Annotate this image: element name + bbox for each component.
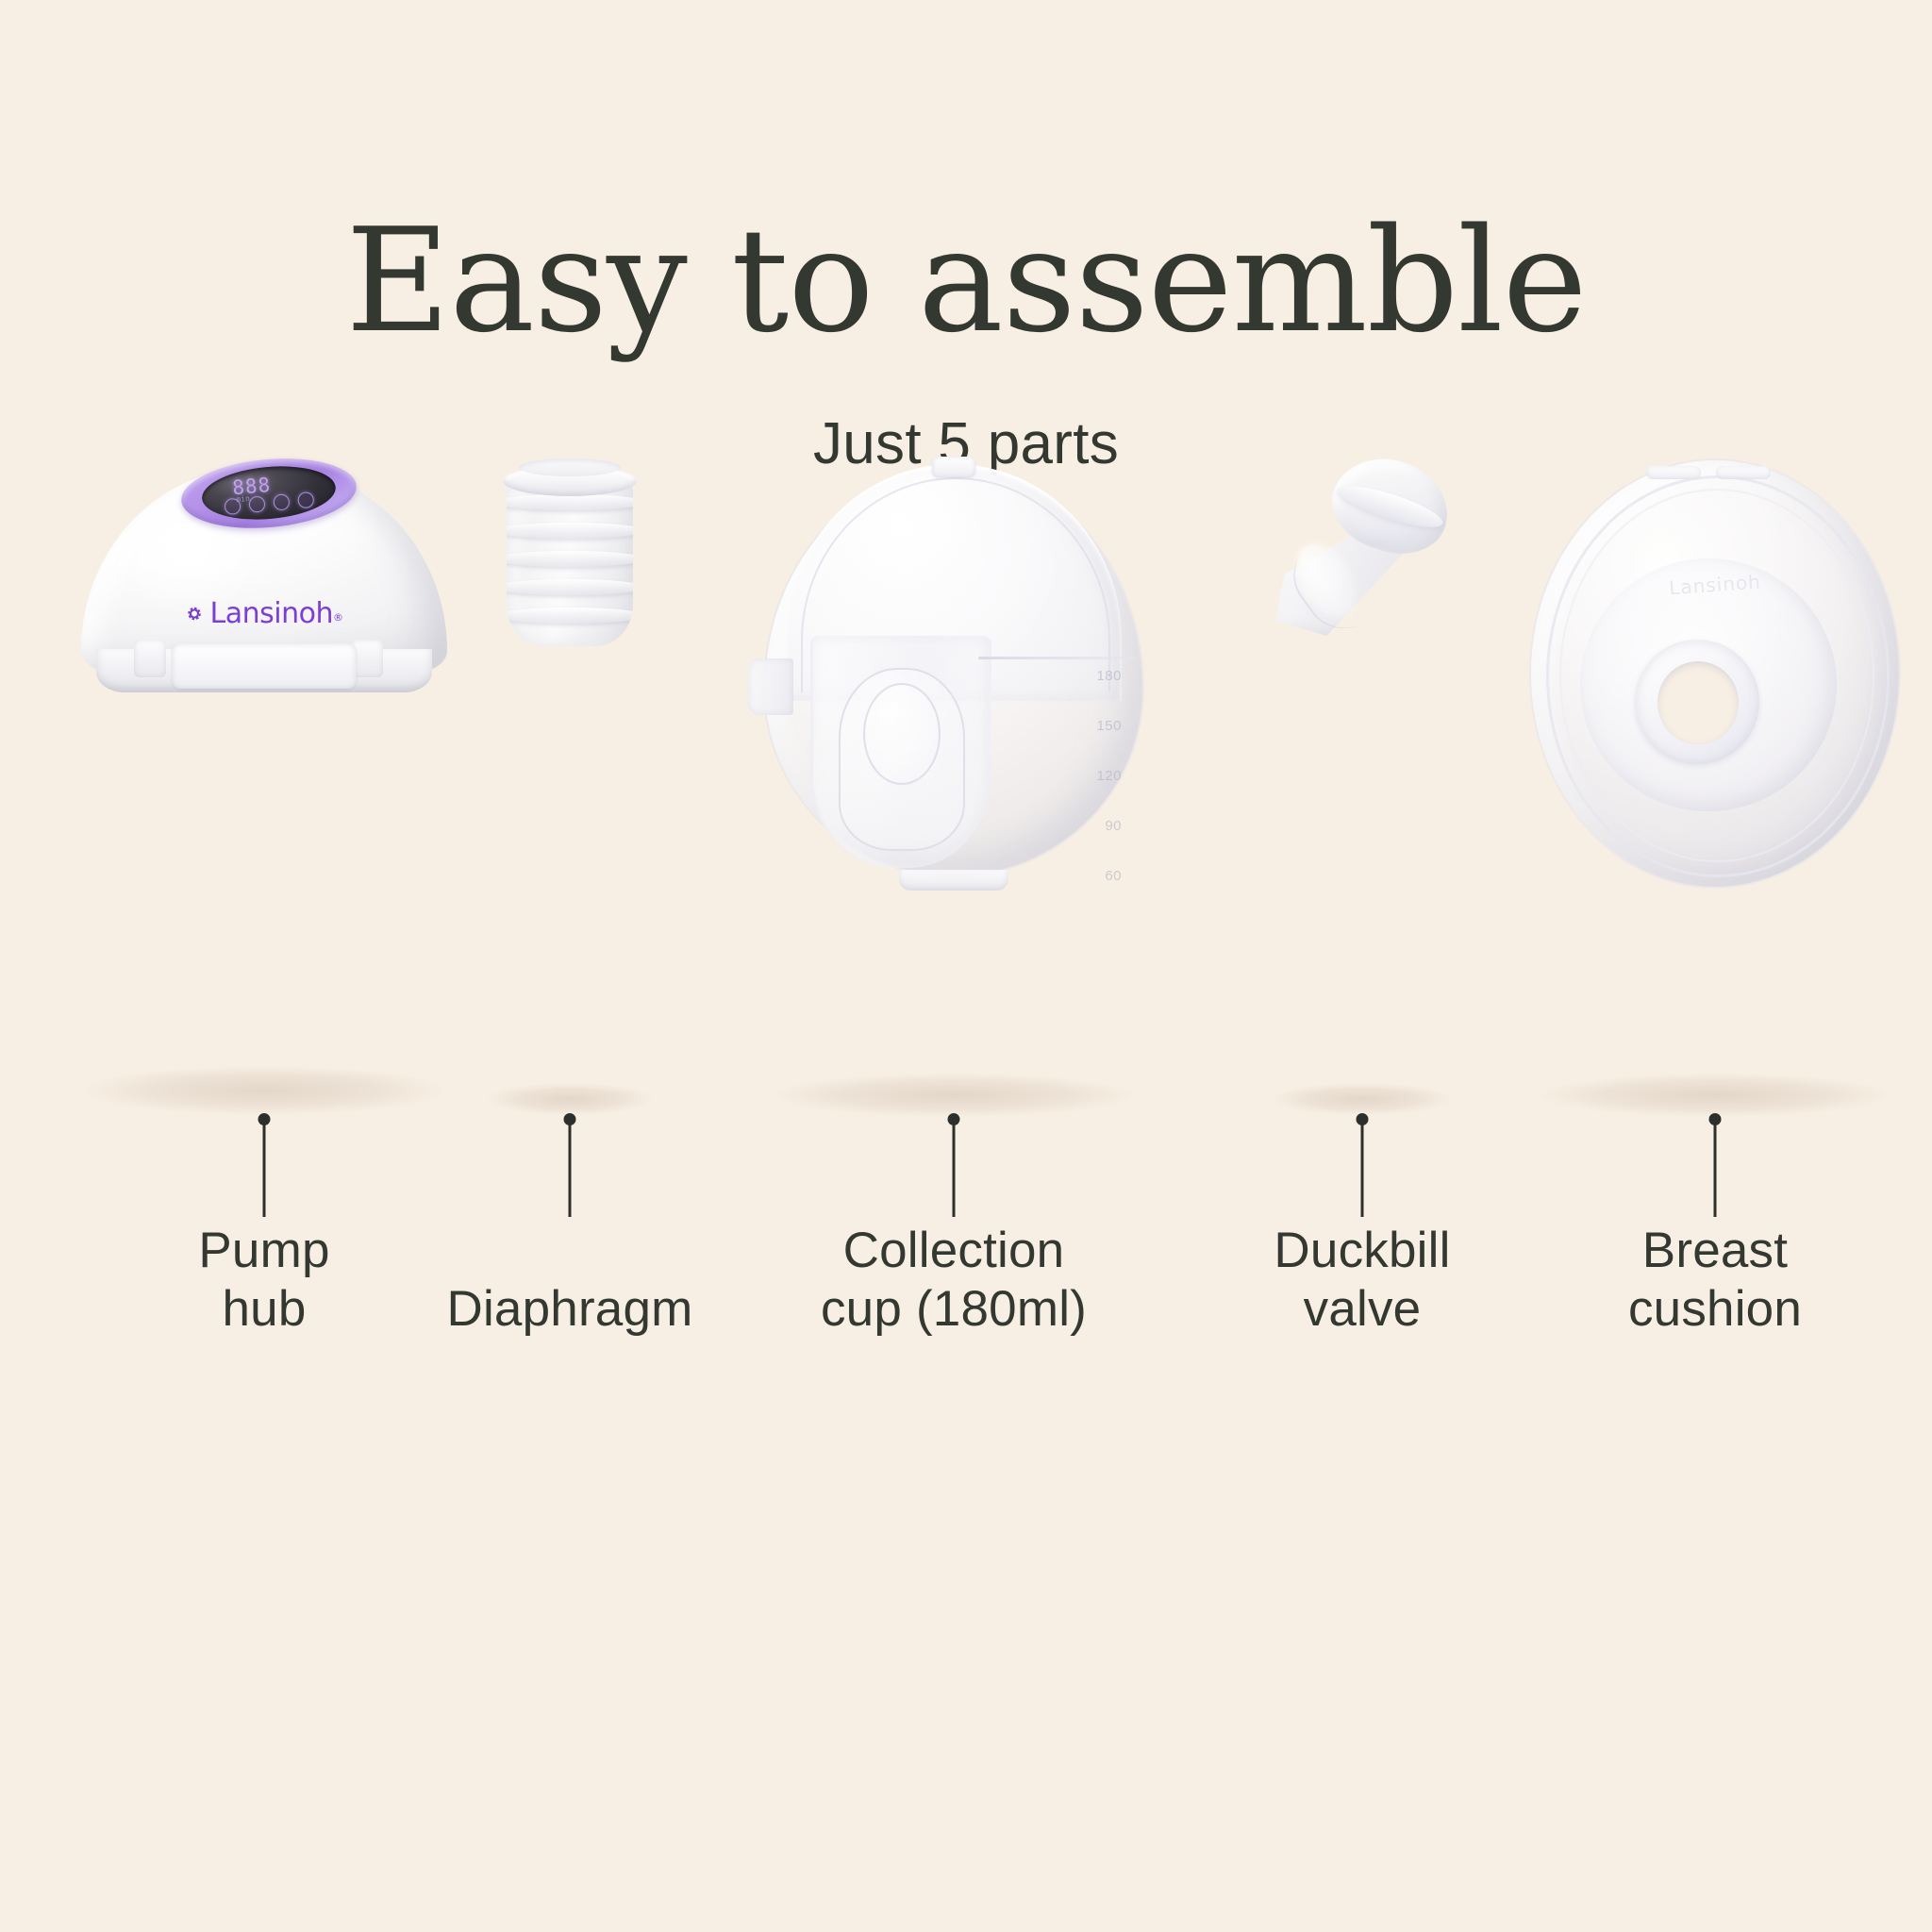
caption-line-1: Duckbill	[1274, 1222, 1450, 1281]
diaphragm-leader	[568, 1113, 573, 1217]
collection-cup-shadow	[774, 1074, 1133, 1117]
diaphragm-art	[494, 453, 645, 660]
minus-icon[interactable]	[273, 493, 290, 510]
pump-hub-leader	[262, 1113, 267, 1217]
duckbill-valve-caption: Duckbill valve	[1274, 1222, 1450, 1340]
page-title: Easy to assemble	[0, 209, 1932, 353]
mode-icon[interactable]	[248, 495, 265, 512]
caption-line-1: Breast	[1628, 1222, 1802, 1281]
diaphragm-rib	[507, 551, 633, 567]
collection-cup-volume-scale: 180 150 120 90 60	[1096, 668, 1122, 884]
leader-line	[569, 1124, 572, 1217]
collection-cup-foot	[899, 870, 1008, 891]
diaphragm-rib	[507, 608, 633, 624]
diaphragm-caption: Diaphragm	[446, 1280, 692, 1340]
breast-cushion-art: Lansinoh	[1531, 453, 1899, 896]
part-breast-cushion[interactable]: Lansinoh Breast cushion	[1498, 830, 1932, 1491]
diaphragm-rib	[507, 523, 633, 539]
diaphragm-body	[507, 481, 633, 646]
pump-hub-caption: Pump hub	[198, 1222, 329, 1340]
pump-hub-brand-name: Lansinoh®	[210, 597, 343, 630]
duckbill-valve-shadow	[1273, 1083, 1452, 1115]
collection-cup-fill-line	[978, 657, 1137, 659]
leader-line	[1361, 1124, 1364, 1217]
volume-mark: 60	[1105, 868, 1122, 884]
collection-cup-hinge	[932, 457, 975, 477]
duckbill-valve-art	[1268, 453, 1457, 656]
pump-hub-clip-left	[134, 640, 166, 677]
pump-hub-brand-logo: Lansinoh®	[186, 597, 343, 630]
volume-mark: 180	[1096, 668, 1122, 684]
caption-line-2: hub	[198, 1280, 329, 1340]
leader-line	[953, 1124, 956, 1217]
diaphragm-rib	[507, 494, 633, 510]
diaphragm-rib	[507, 579, 633, 595]
volume-mark: 120	[1096, 768, 1122, 784]
pump-hub-display[interactable]: 888 min	[200, 461, 338, 525]
caption-line-1: Pump	[198, 1222, 329, 1281]
diaphragm-cap-inner	[519, 458, 621, 476]
power-icon[interactable]	[224, 498, 241, 515]
diaphragm-shadow	[488, 1083, 653, 1115]
leader-line	[1714, 1124, 1717, 1217]
collection-cup-tunnel-inner	[863, 683, 941, 785]
breast-cushion-caption: Breast cushion	[1628, 1222, 1802, 1340]
pump-hub-shadow	[85, 1066, 443, 1115]
leader-line	[263, 1124, 266, 1217]
duckbill-valve-leader	[1360, 1113, 1365, 1217]
breast-cushion-notch-left	[1646, 466, 1701, 479]
part-duckbill-valve[interactable]: Duckbill valve	[1223, 830, 1502, 1491]
collection-cup-leader	[952, 1113, 957, 1217]
caption-line-2: cup (180ml)	[821, 1280, 1087, 1340]
pump-hub-clip-center	[172, 643, 357, 689]
lansinoh-flower-icon	[186, 605, 204, 623]
part-collection-cup[interactable]: 180 150 120 90 60 Collection cup (180ml)	[689, 830, 1219, 1491]
breast-cushion-shadow	[1541, 1074, 1890, 1117]
volume-mark: 150	[1096, 718, 1122, 734]
header-block: Easy to assemble Just 5 parts	[0, 0, 1932, 474]
caption-line-1: Collection	[821, 1222, 1087, 1281]
pump-hub-art: 888 min Lansinoh®	[75, 453, 453, 698]
caption-line-2: valve	[1274, 1280, 1450, 1340]
caption-line-2: cushion	[1628, 1280, 1802, 1340]
collection-cup-spout	[748, 658, 793, 715]
collection-cup-caption: Collection cup (180ml)	[821, 1222, 1087, 1340]
caption-line-1: Diaphragm	[446, 1280, 692, 1340]
parts-row: 888 min Lansinoh® Pump	[0, 830, 1932, 1491]
volume-mark: 90	[1105, 818, 1122, 834]
collection-cup-art: 180 150 120 90 60	[765, 453, 1142, 896]
plus-icon[interactable]	[297, 491, 314, 508]
breast-cushion-notch-right	[1716, 466, 1771, 479]
breast-cushion-aperture	[1657, 661, 1739, 744]
breast-cushion-leader	[1713, 1113, 1718, 1217]
